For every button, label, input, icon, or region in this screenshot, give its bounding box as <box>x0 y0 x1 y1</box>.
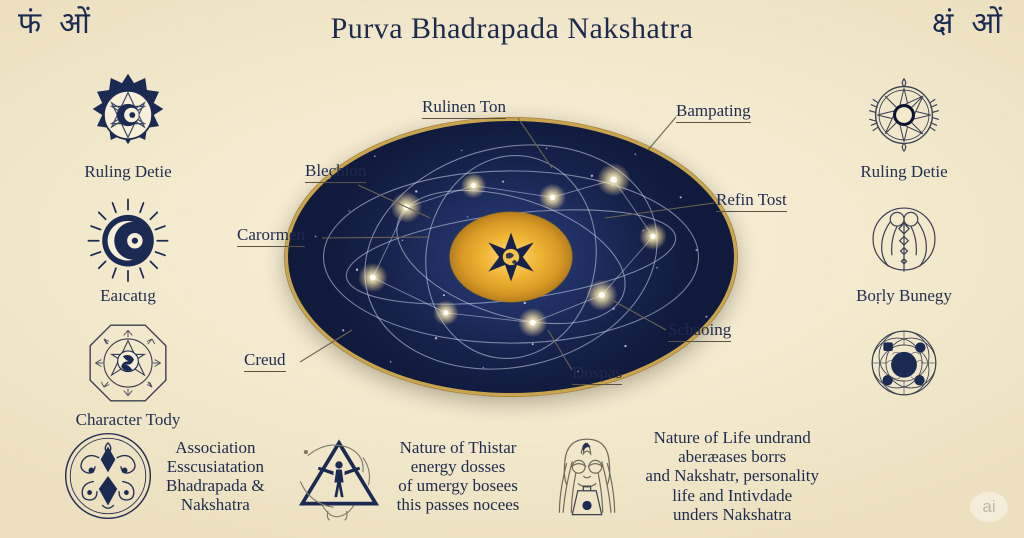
bottom-block-nature-of-life[interactable]: Nature of Life undrand aberæases borrs a… <box>541 428 819 524</box>
text-line: Nature of Life undrand <box>645 428 819 447</box>
callout-dospas: Dospas <box>572 363 622 385</box>
moon-maiden-icon <box>541 430 633 522</box>
left-item-ruling-deity[interactable]: Ruling Detie <box>84 72 171 182</box>
triangle-figure-icon <box>293 430 385 522</box>
ai-watermark: ai <box>970 492 1008 522</box>
text-line: life and Intivdade <box>645 486 819 505</box>
left-attribute-column: Ruling Detie Eaıcatıg <box>28 72 228 430</box>
right-item-lunar-mandala[interactable] <box>861 320 947 410</box>
twin-figure-circle-icon <box>861 196 947 282</box>
sun-wheel-crescent-icon <box>85 72 171 158</box>
radiant-crescent-disc-icon <box>85 196 171 282</box>
text-line: and Nakshatr, personality <box>645 466 819 485</box>
text-line: this passes nocees <box>397 495 520 514</box>
text-line: Esscusiatation <box>166 457 265 476</box>
right-item-ruling-deity[interactable]: Ruling Detie <box>860 72 947 182</box>
lunar-mandala-icon <box>861 320 947 406</box>
text-line: Nature of Thistar <box>397 438 520 457</box>
bottom-summary-row: Association Esscusiatation Bhadrapada & … <box>0 420 1024 532</box>
left-item-label: Ruling Detie <box>84 162 171 182</box>
left-item-eaicatig[interactable]: Eaıcatıg <box>85 196 171 306</box>
ornamental-seal-icon <box>62 430 154 522</box>
text-line: of umergy bosees <box>397 476 520 495</box>
right-item-label: Ruling Detie <box>860 162 947 182</box>
text-line: unders Nakshatra <box>645 505 819 524</box>
callout-carormen: Carormen <box>237 225 305 247</box>
cosmic-ellipse <box>285 118 737 396</box>
octagon-pentagram-icon <box>85 320 171 406</box>
left-item-character-tody[interactable]: Character Tody <box>76 320 181 430</box>
callout-rulinen-ton: Rulinen Ton <box>422 97 506 119</box>
callout-scbaoing: Scbaoing <box>668 320 731 342</box>
bottom-block-text: Nature of Thistar energy dosses of umerg… <box>397 438 520 515</box>
bottom-block-text: Nature of Life undrand aberæases borrs a… <box>645 428 819 524</box>
left-item-label: Eaıcatıg <box>100 286 156 306</box>
page-title: Purva Bhadrapada Nakshatra <box>0 12 1024 46</box>
bottom-block-text: Association Esscusiatation Bhadrapada & … <box>166 438 265 515</box>
text-line: aberæases borrs <box>645 447 819 466</box>
compass-star-icon <box>861 72 947 158</box>
cosmic-diagram <box>285 118 737 396</box>
bottom-block-association[interactable]: Association Esscusiatation Bhadrapada & … <box>62 430 265 522</box>
callout-refin-tost: Refin Tost <box>716 190 787 212</box>
bottom-block-nature-of-thistar[interactable]: Nature of Thistar energy dosses of umerg… <box>293 430 520 522</box>
callout-creud: Creud <box>244 350 286 372</box>
sun-disc-icon <box>450 212 572 302</box>
right-attribute-column: Ruling Detie Boṛly Bunegy <box>804 72 1004 410</box>
callout-bampating: Bampating <box>676 101 751 123</box>
infographic-poster: फं ओं क्षं ओं Purva Bhadrapada Nakshatra <box>0 0 1024 538</box>
right-item-body-energy[interactable]: Boṛly Bunegy <box>856 196 952 306</box>
text-line: Bhadrapada & <box>166 476 265 495</box>
callout-blechion: Blechion <box>305 161 366 183</box>
right-item-label: Boṛly Bunegy <box>856 286 952 306</box>
text-line: Association <box>166 438 265 457</box>
text-line: energy dosses <box>397 457 520 476</box>
text-line: Nakshatra <box>166 495 265 514</box>
